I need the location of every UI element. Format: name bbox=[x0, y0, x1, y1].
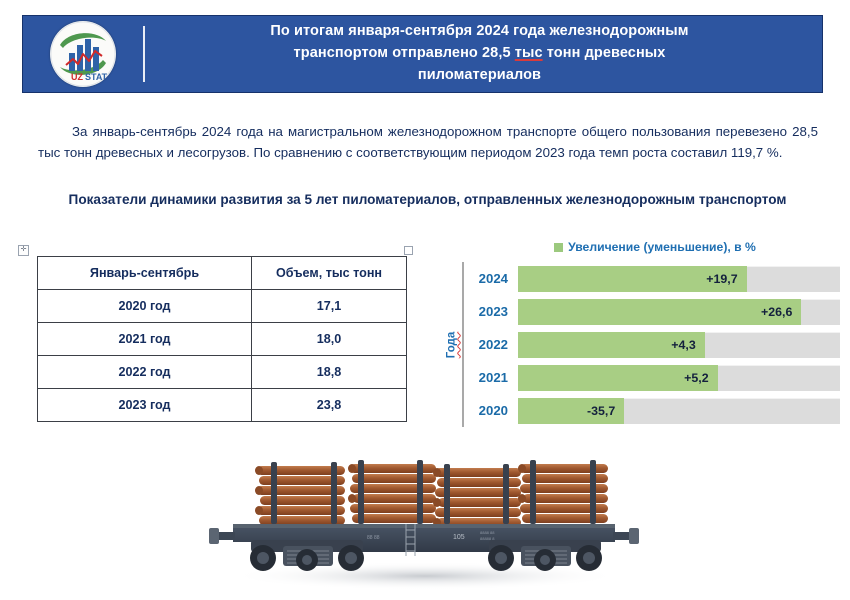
chart-category-label: 2021 bbox=[464, 370, 518, 385]
chart-bar-row: 2023 +26,6 bbox=[464, 295, 840, 328]
legend-swatch-icon bbox=[554, 243, 563, 252]
chart-bars-area: 2024 +19,7 2023 +26,6 2022 bbox=[462, 262, 840, 427]
chart-bar-track: +5,2 bbox=[518, 365, 840, 391]
chart-category-label: 2023 bbox=[464, 304, 518, 319]
car-number: 105 bbox=[453, 534, 465, 541]
table-cell-volume: 18,0 bbox=[252, 323, 407, 356]
table-cell-year: 2022 год bbox=[38, 356, 252, 389]
logo-container: UZ STAT bbox=[23, 21, 143, 87]
chart-bar-fill: +26,6 bbox=[518, 299, 801, 325]
header-title-line-1: По итогам января-сентября 2024 года желе… bbox=[270, 23, 688, 39]
header-title-line-3: пиломатериалов bbox=[418, 67, 541, 83]
chart-bar-track: +19,7 bbox=[518, 266, 840, 292]
chart-bar-track: +26,6 bbox=[518, 299, 840, 325]
table-move-handle-icon[interactable]: ✛ bbox=[18, 245, 29, 256]
chart-bar-value: -35,7 bbox=[587, 404, 624, 418]
header-banner: UZ STAT По итогам января-сентября 2024 г… bbox=[22, 15, 823, 93]
chart-bar-track: +4,3 bbox=[518, 332, 840, 358]
intro-paragraph: За январь-сентябрь 2024 года на магистра… bbox=[38, 122, 818, 163]
legend-label: Увеличение (уменьшение), в % bbox=[568, 240, 756, 254]
section-heading: Показатели динамики развития за 5 лет пи… bbox=[60, 190, 795, 210]
chart-bar-fill: +19,7 bbox=[518, 266, 747, 292]
chart-bar-track: -35,7 bbox=[518, 398, 840, 424]
table-cell-volume: 17,1 bbox=[252, 290, 407, 323]
header-title-line-2c: тонн древесных bbox=[543, 45, 666, 61]
table-header-volume: Объем, тыс тонн bbox=[252, 257, 407, 290]
header-divider bbox=[143, 26, 145, 82]
chart-bar-value: +4,3 bbox=[671, 338, 704, 352]
chart-legend: Увеличение (уменьшение), в % bbox=[440, 240, 840, 254]
chart-bar-fill: +5,2 bbox=[518, 365, 718, 391]
svg-text:88 88: 88 88 bbox=[367, 535, 380, 541]
table-cell-volume: 23,8 bbox=[252, 389, 407, 422]
table-header-row: Январь-сентябрь Объем, тыс тонн bbox=[38, 257, 407, 290]
chart-bar-value: +5,2 bbox=[684, 371, 717, 385]
chart-bar-row: 2020 -35,7 bbox=[464, 394, 840, 427]
table-row: 2020 год 17,1 bbox=[38, 290, 407, 323]
chart-body: Года 2024 +19,7 2023 +26,6 bbox=[440, 262, 840, 427]
uzstat-logo-icon: UZ STAT bbox=[50, 21, 116, 87]
table-row: 2022 год 18,8 bbox=[38, 356, 407, 389]
chart-bar-row: 2021 +5,2 bbox=[464, 361, 840, 394]
chart-bar-value: +26,6 bbox=[761, 305, 801, 319]
volume-table: Январь-сентябрь Объем, тыс тонн 2020 год… bbox=[37, 256, 407, 422]
table-cell-year: 2023 год bbox=[38, 389, 252, 422]
table-cell-year: 2021 год bbox=[38, 323, 252, 356]
table-header-period: Январь-сентябрь bbox=[38, 257, 252, 290]
svg-text:UZ: UZ bbox=[71, 72, 83, 82]
table-row: 2021 год 18,0 bbox=[38, 323, 407, 356]
header-title-line-2a: транспортом отправлено 28,5 bbox=[294, 45, 515, 61]
table-resize-handle-icon[interactable] bbox=[404, 246, 413, 255]
chart-bar-fill: -35,7 bbox=[518, 398, 624, 424]
page-title: По итогам января-сентября 2024 года желе… bbox=[163, 21, 822, 86]
table-cell-volume: 18,8 bbox=[252, 356, 407, 389]
chart-y-axis-title: Года bbox=[440, 262, 462, 427]
chart-category-label: 2022 bbox=[464, 337, 518, 352]
growth-bar-chart: Увеличение (уменьшение), в % Года 2024 +… bbox=[440, 240, 840, 440]
chart-y-axis-title-text: Года bbox=[445, 331, 457, 358]
chart-bar-value: +19,7 bbox=[706, 272, 746, 286]
table-row: 2023 год 23,8 bbox=[38, 389, 407, 422]
chart-bar-row: 2024 +19,7 bbox=[464, 262, 840, 295]
chart-bar-row: 2022 +4,3 bbox=[464, 328, 840, 361]
svg-text:STAT: STAT bbox=[85, 72, 108, 82]
railway-flatcar-illustration: 88 88 105 8888 88 88888 8 bbox=[195, 448, 655, 598]
svg-text:8888 88: 8888 88 bbox=[480, 530, 495, 535]
table-cell-year: 2020 год bbox=[38, 290, 252, 323]
header-title-line-2b: тыс bbox=[515, 45, 543, 61]
chart-category-label: 2024 bbox=[464, 271, 518, 286]
chart-category-label: 2020 bbox=[464, 403, 518, 418]
chart-bar-fill: +4,3 bbox=[518, 332, 705, 358]
